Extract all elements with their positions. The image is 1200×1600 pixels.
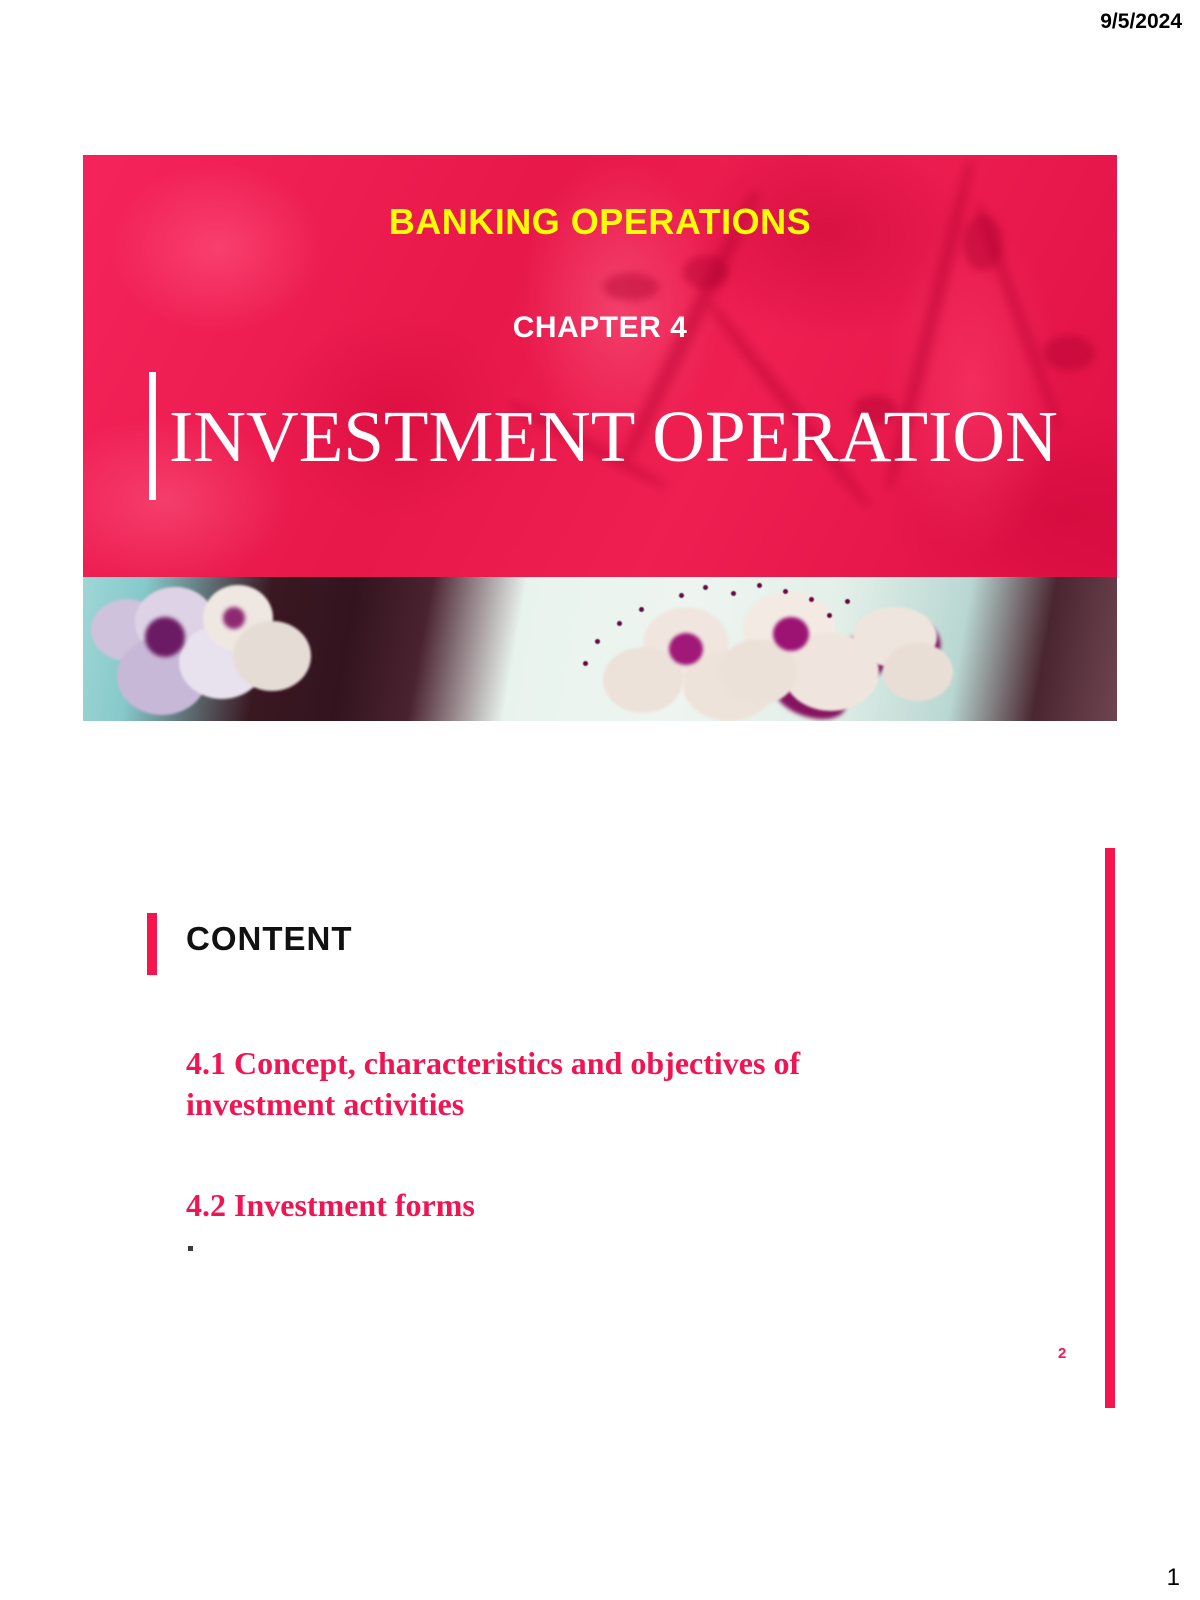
stamen-icon — [703, 585, 708, 590]
purple-flower-petal-icon — [233, 621, 311, 691]
flower-bud-icon — [683, 255, 729, 289]
blossom-photo-strip — [83, 577, 1117, 721]
content-heading: CONTENT — [186, 920, 353, 958]
slide-title-text: INVESTMENT OPERATION — [169, 400, 1117, 473]
stamen-icon — [845, 599, 850, 604]
flower-bud-icon — [603, 273, 659, 301]
stamen-icon — [809, 597, 814, 602]
cherry-blossom-center-icon — [669, 633, 703, 665]
stamen-icon — [639, 607, 644, 612]
document-date: 9/5/2024 — [1100, 10, 1182, 34]
slide-number: 2 — [1058, 1345, 1066, 1362]
cherry-blossom-petal-icon — [883, 643, 953, 701]
stamen-icon — [731, 591, 736, 596]
stamen-icon — [595, 639, 600, 644]
stamen-icon — [679, 593, 684, 598]
content-heading-accent-bar — [147, 913, 157, 975]
content-side-rule — [1105, 848, 1115, 1408]
content-slide: CONTENT 4.1 Concept, characteristics and… — [83, 800, 1117, 1460]
purple-flower-center-icon — [223, 607, 245, 629]
stamen-icon — [757, 583, 762, 588]
cherry-blossom-center-icon — [773, 617, 809, 651]
stamen-icon — [617, 621, 622, 626]
document-page-number: 1 — [1167, 1564, 1180, 1592]
course-title: BANKING OPERATIONS — [83, 201, 1117, 243]
bullet-dot-mark — [188, 1246, 193, 1251]
content-item-4-2: 4.2 Investment forms — [186, 1185, 806, 1226]
content-item-4-1: 4.1 Concept, characteristics and objecti… — [186, 1043, 806, 1125]
stamen-icon — [783, 589, 788, 594]
title-slide: BANKING OPERATIONS CHAPTER 4 INVESTMENT … — [83, 155, 1117, 721]
stamen-icon — [827, 613, 832, 618]
chapter-label: CHAPTER 4 — [83, 311, 1117, 345]
stamen-icon — [583, 661, 588, 666]
purple-flower-center-icon — [145, 617, 185, 657]
title-accent-bar — [149, 372, 156, 500]
